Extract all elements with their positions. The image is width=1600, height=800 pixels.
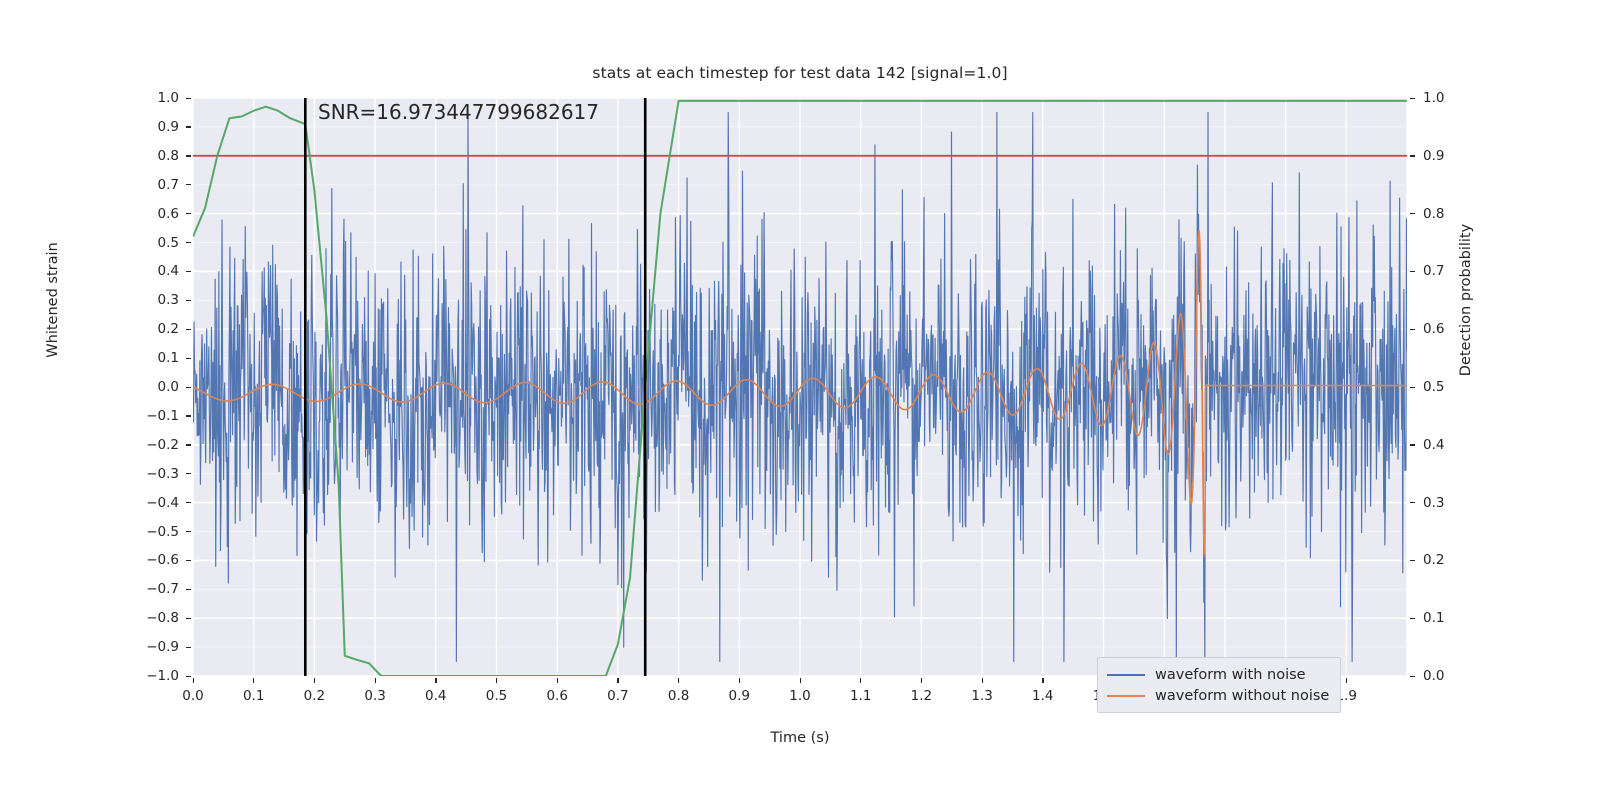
x-axis-tick-mark: [496, 678, 497, 683]
x-axis-tick-label: 1.3: [971, 688, 992, 704]
x-axis-tick-label: 0.8: [668, 688, 689, 704]
y-axis-left-tick-label: 0.1: [131, 350, 179, 366]
y-axis-left-tick-label: −0.9: [131, 639, 179, 655]
x-axis-tick-mark: [739, 678, 740, 683]
y-axis-right-tick-mark: [1410, 155, 1415, 156]
x-axis-tick-mark: [557, 678, 558, 683]
x-axis-tick-mark: [617, 678, 618, 683]
y-axis-left-tick-mark: [186, 560, 191, 561]
y-axis-left-label: Whitened strain: [45, 160, 61, 440]
x-axis-label: Time (s): [0, 730, 1600, 746]
y-axis-left-tick-mark: [186, 300, 191, 301]
y-axis-left-tick-mark: [186, 213, 191, 214]
y-axis-left-tick-mark: [186, 531, 191, 532]
y-axis-left-tick-label: −0.2: [131, 437, 179, 453]
y-axis-right-tick-label: 1.0: [1423, 90, 1471, 106]
y-axis-left-tick-label: 0.3: [131, 292, 179, 308]
y-axis-left-tick-label: 0.9: [131, 119, 179, 135]
x-axis-tick-label: 0.6: [546, 688, 567, 704]
y-axis-left-tick-mark: [186, 647, 191, 648]
x-axis-tick-label: 1.4: [1032, 688, 1053, 704]
y-axis-right-label: Detection probability: [1458, 160, 1474, 440]
y-axis-right-tick-label: 0.3: [1423, 495, 1471, 511]
x-axis-tick-mark: [253, 678, 254, 683]
y-axis-left-tick-label: −0.8: [131, 610, 179, 626]
x-axis-tick-mark: [375, 678, 376, 683]
y-axis-left-tick-mark: [186, 184, 191, 185]
y-axis-left-tick-mark: [186, 126, 191, 127]
x-axis-tick-label: 1.0: [789, 688, 810, 704]
y-axis-left-tick-label: −0.4: [131, 495, 179, 511]
legend-item[interactable]: waveform with noise: [1107, 664, 1329, 685]
y-axis-left-tick-label: 1.0: [131, 90, 179, 106]
y-axis-left-tick-mark: [186, 271, 191, 272]
y-axis-left-tick-mark: [186, 98, 191, 99]
x-axis-tick-mark: [314, 678, 315, 683]
y-axis-left-tick-mark: [186, 358, 191, 359]
y-axis-left-tick-mark: [186, 242, 191, 243]
y-axis-left-tick-label: −0.5: [131, 524, 179, 540]
y-axis-right-tick-mark: [1410, 329, 1415, 330]
x-axis-tick-mark: [860, 678, 861, 683]
y-axis-right-tick-mark: [1410, 98, 1415, 99]
y-axis-left-tick-mark: [186, 155, 191, 156]
legend-color-swatch: [1107, 695, 1145, 697]
figure-canvas: stats at each timestep for test data 142…: [0, 0, 1600, 800]
x-axis-tick-label: 0.1: [243, 688, 264, 704]
y-axis-left-tick-label: −0.7: [131, 581, 179, 597]
x-axis-tick-mark: [678, 678, 679, 683]
y-axis-right-tick-label: 0.1: [1423, 610, 1471, 626]
y-axis-right-tick-mark: [1410, 502, 1415, 503]
x-axis-tick-mark: [193, 678, 194, 683]
x-axis-tick-label: 0.7: [607, 688, 628, 704]
y-axis-right-tick-mark: [1410, 676, 1415, 677]
y-axis-right-tick-mark: [1410, 618, 1415, 619]
y-axis-left-tick-label: 0.2: [131, 321, 179, 337]
y-axis-left-tick-label: −0.1: [131, 408, 179, 424]
y-axis-right-tick-mark: [1410, 560, 1415, 561]
x-axis-tick-label: 1.1: [850, 688, 871, 704]
y-axis-left-tick-label: 0.5: [131, 235, 179, 251]
chart-legend: waveform with noisewaveform without nois…: [1097, 657, 1341, 713]
y-axis-left-tick-mark: [186, 502, 191, 503]
y-axis-left-tick-label: −1.0: [131, 668, 179, 684]
y-axis-left-tick-label: 0.4: [131, 263, 179, 279]
x-axis-tick-mark: [982, 678, 983, 683]
legend-color-swatch: [1107, 674, 1145, 676]
page-title: stats at each timestep for test data 142…: [0, 64, 1600, 82]
legend-item-label: waveform with noise: [1155, 667, 1306, 683]
x-axis-tick-mark: [1042, 678, 1043, 683]
y-axis-right-tick-mark: [1410, 387, 1415, 388]
y-axis-left-tick-label: 0.8: [131, 148, 179, 164]
plot-area: [193, 98, 1407, 676]
y-axis-right-tick-mark: [1410, 271, 1415, 272]
x-axis-tick-label: 0.3: [364, 688, 385, 704]
x-axis-tick-label: 0.0: [182, 688, 203, 704]
snr-annotation: SNR=16.973447799682617: [318, 100, 599, 124]
y-axis-right-tick-label: 0.2: [1423, 552, 1471, 568]
x-axis-tick-label: 1.2: [911, 688, 932, 704]
legend-item-label: waveform without noise: [1155, 688, 1329, 704]
x-axis-tick-label: 0.4: [425, 688, 446, 704]
chart-svg: [193, 98, 1407, 676]
y-axis-left-tick-mark: [186, 329, 191, 330]
y-axis-left-tick-label: 0.6: [131, 206, 179, 222]
x-axis-tick-mark: [435, 678, 436, 683]
y-axis-left-tick-label: −0.6: [131, 552, 179, 568]
x-axis-tick-mark: [921, 678, 922, 683]
y-axis-right-tick-label: 0.0: [1423, 668, 1471, 684]
y-axis-right-tick-mark: [1410, 213, 1415, 214]
y-axis-left-tick-mark: [186, 676, 191, 677]
x-axis-tick-label: 0.5: [486, 688, 507, 704]
x-axis-tick-mark: [800, 678, 801, 683]
y-axis-left-tick-label: −0.3: [131, 466, 179, 482]
x-axis-tick-mark: [1346, 678, 1347, 683]
y-axis-left-tick-mark: [186, 473, 191, 474]
y-axis-left-tick-mark: [186, 387, 191, 388]
y-axis-left-tick-mark: [186, 444, 191, 445]
y-axis-right-tick-mark: [1410, 444, 1415, 445]
x-axis-tick-label: 0.2: [304, 688, 325, 704]
legend-item[interactable]: waveform without noise: [1107, 685, 1329, 706]
y-axis-left-tick-label: 0.0: [131, 379, 179, 395]
y-axis-left-tick-label: 0.7: [131, 177, 179, 193]
y-axis-left-tick-mark: [186, 415, 191, 416]
y-axis-left-tick-mark: [186, 618, 191, 619]
y-axis-left-tick-mark: [186, 589, 191, 590]
x-axis-tick-label: 0.9: [729, 688, 750, 704]
